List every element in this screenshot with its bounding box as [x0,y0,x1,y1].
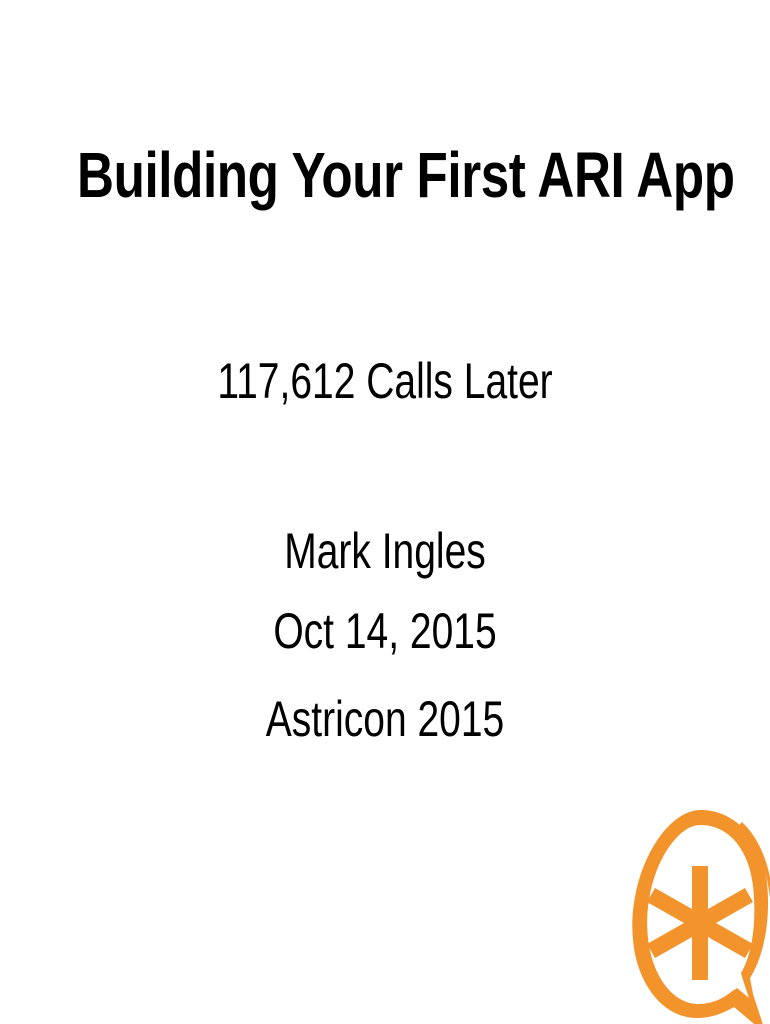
presentation-slide: Building Your First ARI App 117,612 Call… [0,0,770,1024]
asterisk-logo-svg [622,798,770,1024]
asterisk-logo-marks [632,810,770,1024]
asterisk-logo [622,798,770,1024]
slide-subtitle: 117,612 Calls Later [85,352,686,410]
asterisk-star [647,866,753,980]
event-name: Astricon 2015 [85,690,686,748]
presenter-name: Mark Ingles [85,522,686,580]
presentation-date: Oct 14, 2015 [85,602,686,660]
slide-title: Building Your First ARI App [77,138,693,212]
